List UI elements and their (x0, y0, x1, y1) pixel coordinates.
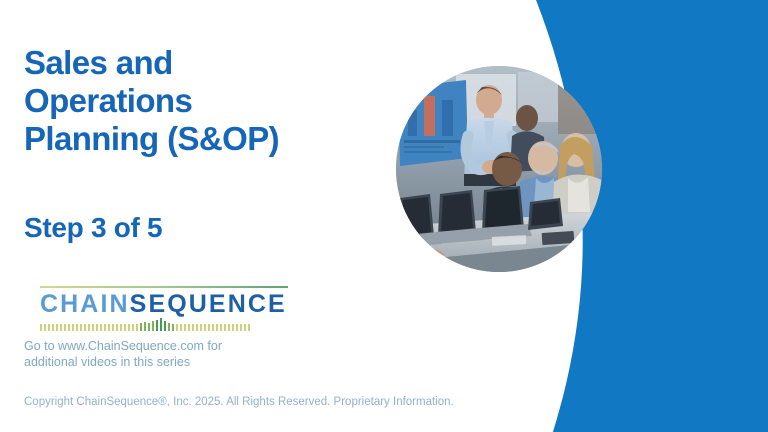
tagline-line-1: Go to www.ChainSequence.com for (24, 338, 324, 354)
logo-top-rule (40, 286, 288, 288)
presentation-slide: Sales and Operations Planning (S&OP) Ste… (0, 0, 768, 432)
page-title: Sales and Operations Planning (S&OP) (24, 44, 414, 158)
meeting-photo (396, 66, 602, 272)
logo-word-chain: CHAIN (40, 290, 130, 318)
chainsequence-logo: CHAINSEQUENCE (22, 286, 284, 331)
title-line-1: Sales and (24, 44, 414, 82)
title-line-2: Operations (24, 82, 414, 120)
copyright-notice: Copyright ChainSequence®, Inc. 2025. All… (24, 396, 454, 408)
tagline-line-2: additional videos in this series (24, 354, 324, 370)
title-line-3: Planning (S&OP) (24, 120, 414, 158)
logo-bar-graphic (40, 318, 252, 331)
logo-word-sequence: SEQUENCE (130, 290, 287, 318)
tagline: Go to www.ChainSequence.com for addition… (24, 338, 324, 370)
slide-content: Sales and Operations Planning (S&OP) Ste… (24, 0, 424, 432)
step-indicator: Step 3 of 5 (24, 212, 162, 244)
logo-wordmark: CHAINSEQUENCE (40, 291, 284, 317)
